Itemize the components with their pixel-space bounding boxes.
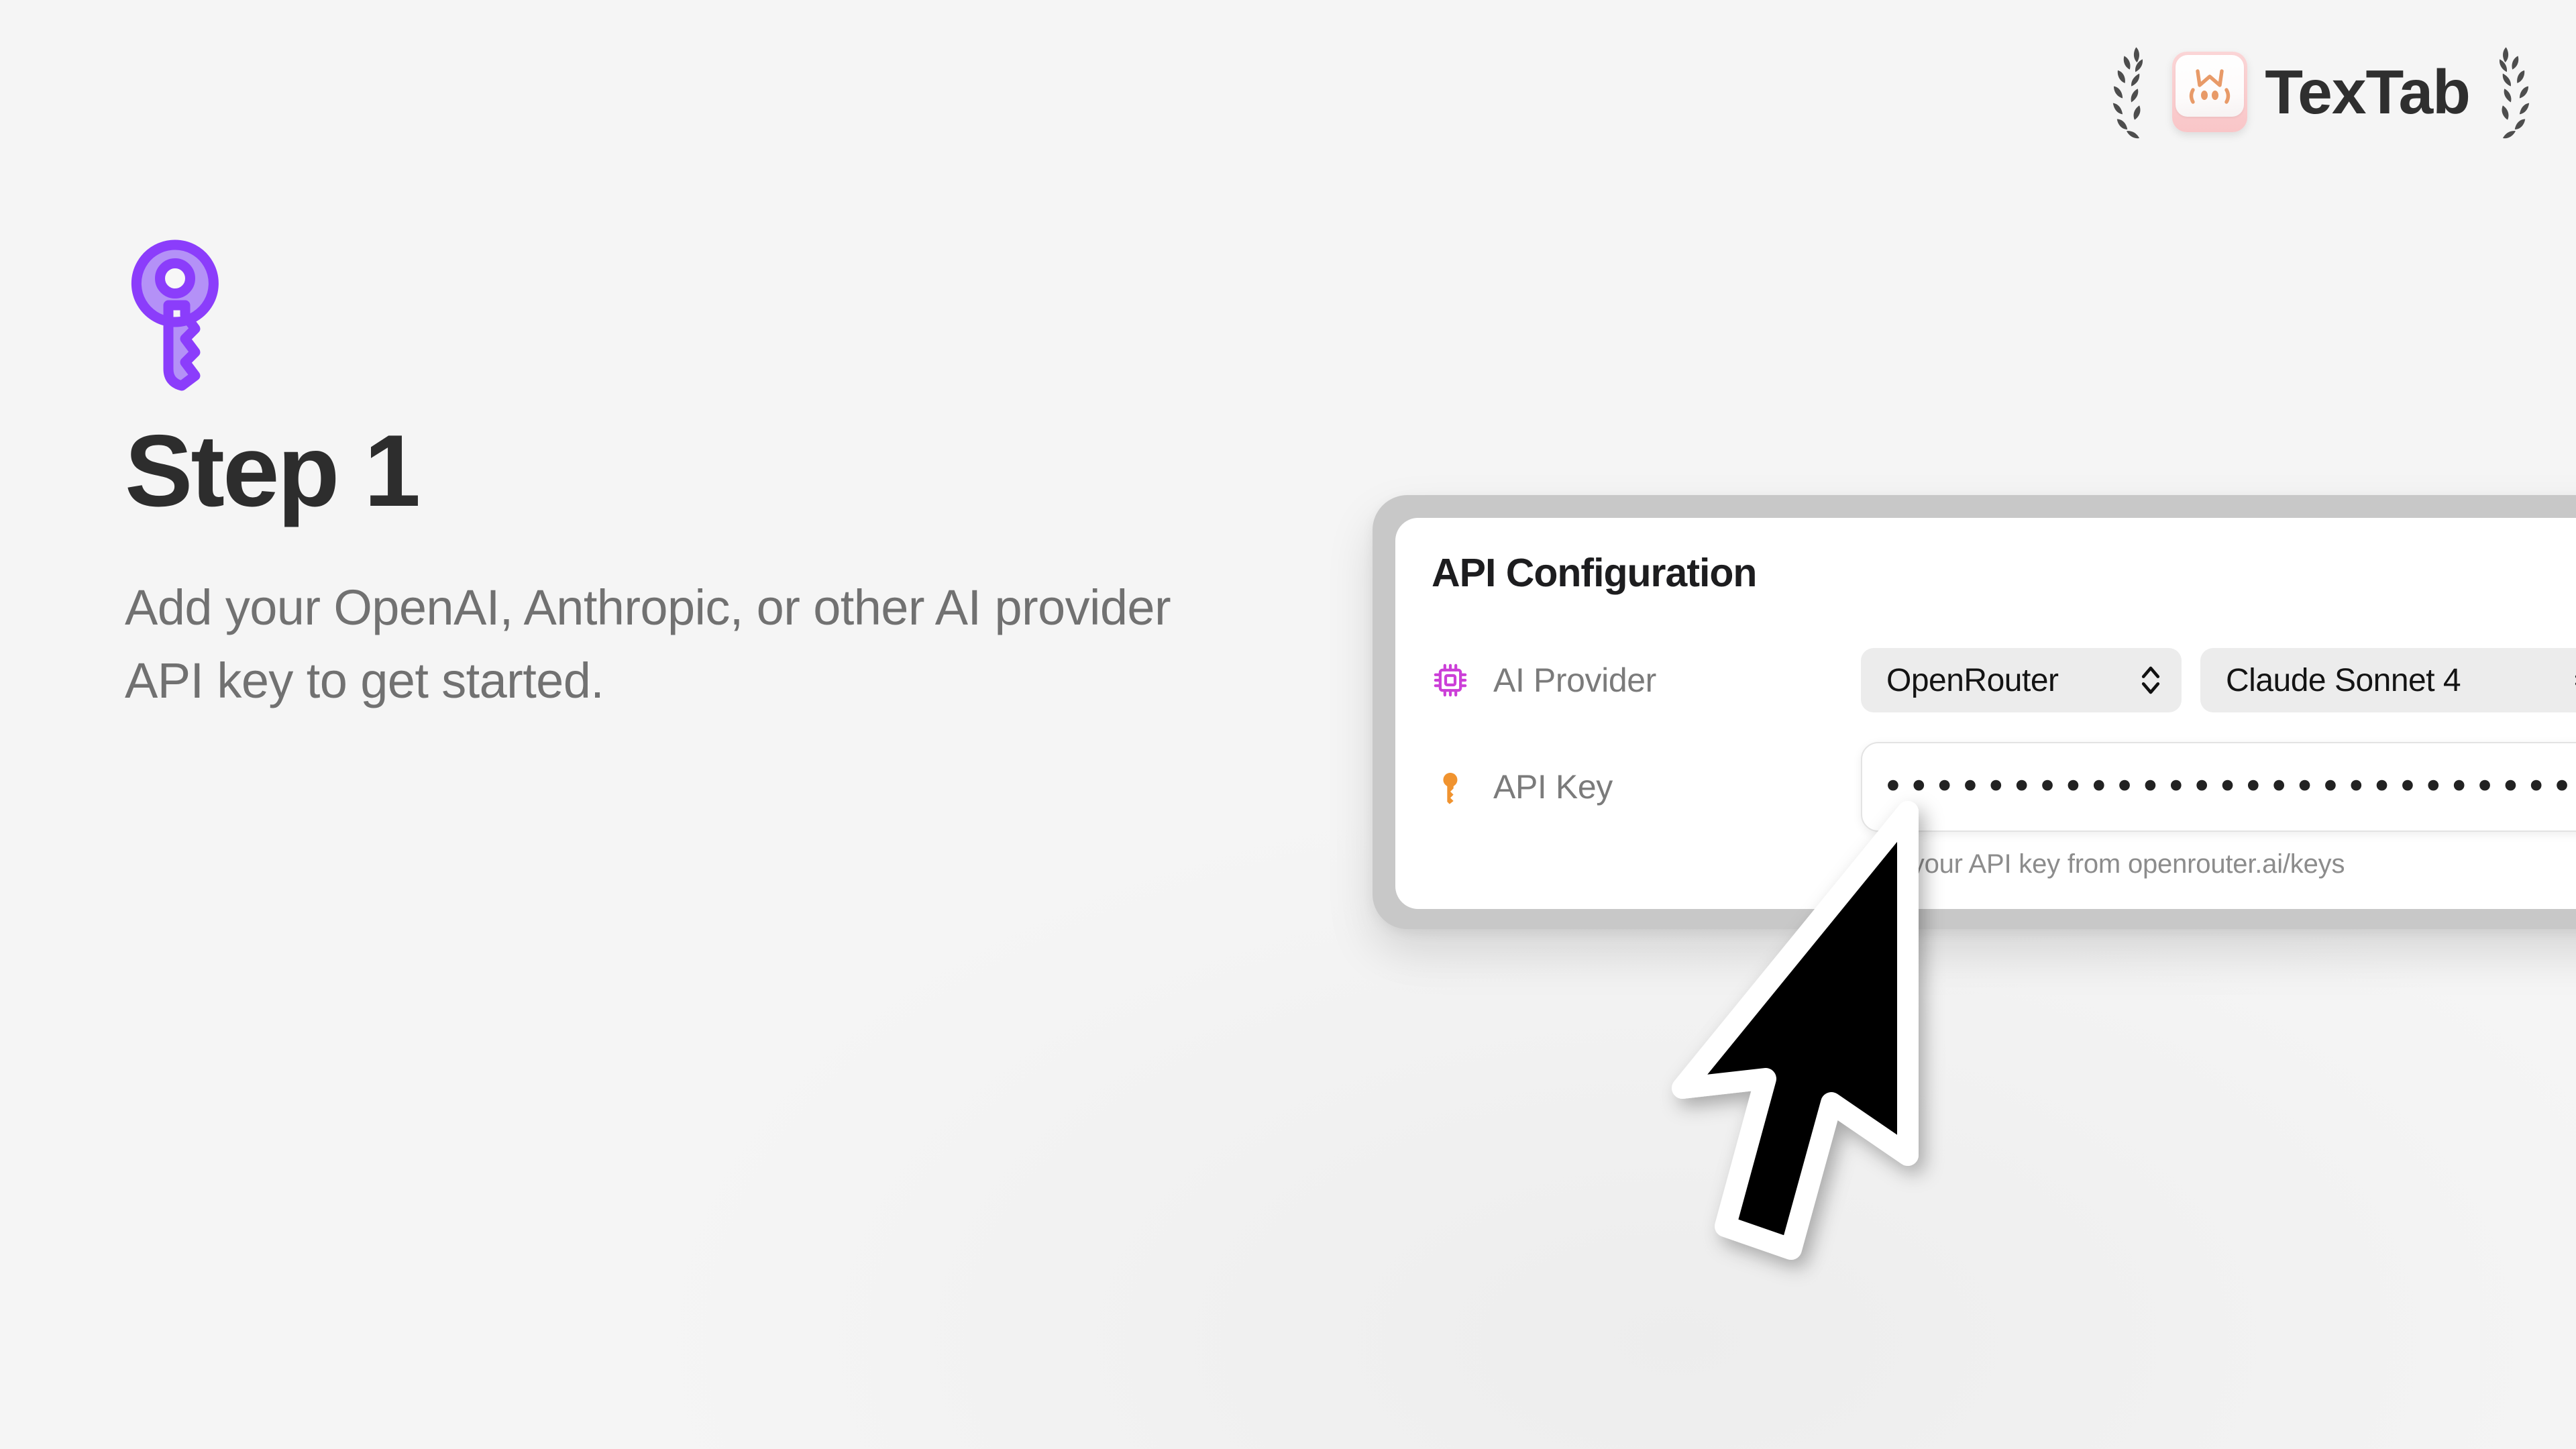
- brand-logo: TexTab: [2106, 42, 2536, 142]
- model-select[interactable]: Claude Sonnet 4: [2200, 648, 2576, 712]
- cat-face-icon: [2185, 64, 2235, 107]
- api-key-row: API Key ••••••••••••••••••••••••••••••••…: [1432, 742, 2576, 832]
- step-description: Add your OpenAI, Anthropic, or other AI …: [125, 572, 1212, 718]
- page-title: Step 1: [125, 419, 1265, 523]
- chevron-up-down-icon: [2572, 662, 2576, 698]
- api-key-help-text: Get your API key from openrouter.ai/keys: [1861, 849, 2576, 879]
- onboarding-screen: TexTab Step 1 Add your OpenAI, A: [0, 0, 2576, 1449]
- laurel-branch-left-icon: [2106, 42, 2155, 142]
- api-configuration-card-frame: API Configuration AI Provider: [1373, 495, 2576, 929]
- chevron-up-down-icon: [2139, 662, 2163, 698]
- api-configuration-card: API Configuration AI Provider: [1395, 518, 2576, 909]
- key-icon: [125, 238, 225, 392]
- brand-wordmark: TexTab: [2265, 61, 2470, 123]
- card-title: API Configuration: [1432, 550, 2576, 596]
- provider-select-value: OpenRouter: [1886, 662, 2059, 699]
- provider-select[interactable]: OpenRouter: [1861, 648, 2182, 712]
- cpu-chip-icon: [1432, 661, 1469, 699]
- keycap-face: [2176, 55, 2244, 117]
- cat-keycap-icon: [2172, 52, 2247, 132]
- api-key-label: API Key: [1493, 767, 1613, 806]
- laurel-branch-right-icon: [2487, 42, 2536, 142]
- api-key-label-group: API Key: [1432, 767, 1861, 806]
- ai-provider-row: AI Provider OpenRouter Claude Sonnet 4: [1432, 648, 2576, 712]
- model-select-value: Claude Sonnet 4: [2226, 662, 2461, 699]
- step-panel: Step 1 Add your OpenAI, Anthropic, or ot…: [125, 238, 1265, 718]
- key-icon: [1432, 768, 1469, 806]
- ai-provider-label: AI Provider: [1493, 661, 1656, 700]
- api-key-input[interactable]: ••••••••••••••••••••••••••••••••••••••••…: [1861, 742, 2576, 832]
- api-key-masked-value: ••••••••••••••••••••••••••••••••••••••••…: [1882, 769, 2576, 805]
- ai-provider-label-group: AI Provider: [1432, 661, 1861, 700]
